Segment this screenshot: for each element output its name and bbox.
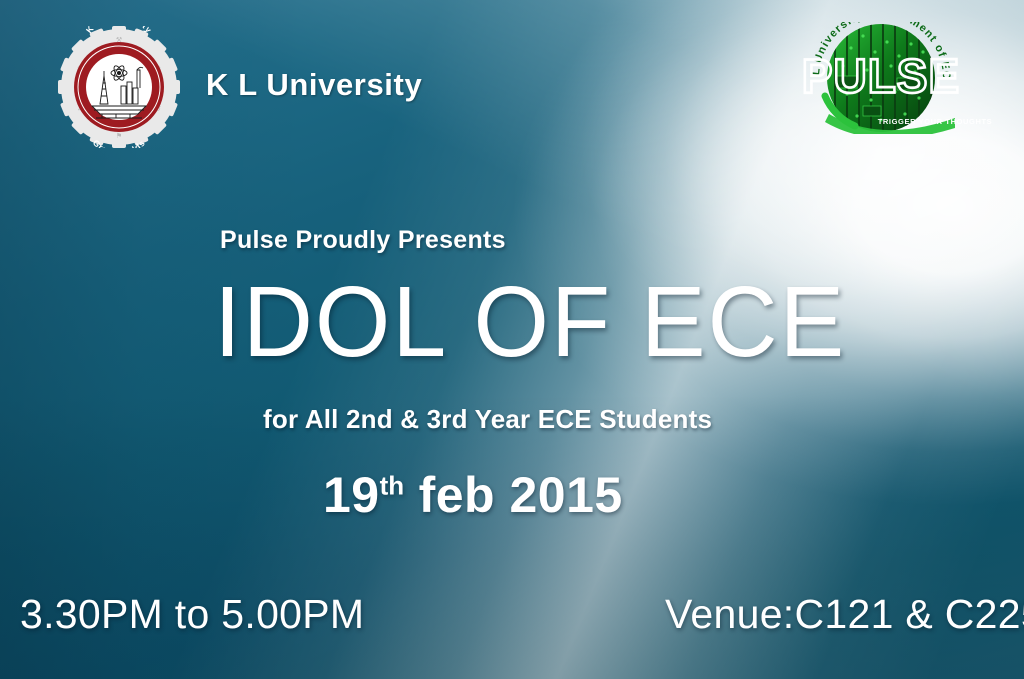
- kl-university-wordmark: K L University: [206, 67, 422, 107]
- page-title: IDOL OF ECE: [214, 272, 846, 372]
- audience-line: for All 2nd & 3rd Year ECE Students: [263, 404, 712, 435]
- svg-text:⚑: ⚑: [116, 132, 122, 140]
- event-poster: ⚙ ⚙ ✓ ↺ ⚒ ⚑ K L University Green Fields: [0, 0, 1024, 679]
- event-date-day: 19: [323, 467, 380, 523]
- event-date: 19th feb 2015: [323, 466, 623, 524]
- event-date-ordinal: th: [380, 470, 405, 500]
- event-venue: Venue:C121 & C225: [665, 591, 1024, 638]
- presents-line: Pulse Proudly Presents: [220, 226, 506, 255]
- pulse-ece-emblem-icon: K L University Department of ECE PULSE T…: [777, 22, 1009, 134]
- event-time: 3.30PM to 5.00PM: [20, 591, 364, 638]
- kl-university-emblem-icon: ⚙ ⚙ ✓ ↺ ⚒ ⚑ K L University Green Fields: [58, 26, 180, 148]
- event-date-rest: feb 2015: [419, 467, 623, 523]
- kl-university-logo-block: ⚙ ⚙ ✓ ↺ ⚒ ⚑ K L University Green Fields: [58, 26, 422, 148]
- svg-text:TRIGGER YOUR THOUGHTS: TRIGGER YOUR THOUGHTS: [878, 117, 993, 126]
